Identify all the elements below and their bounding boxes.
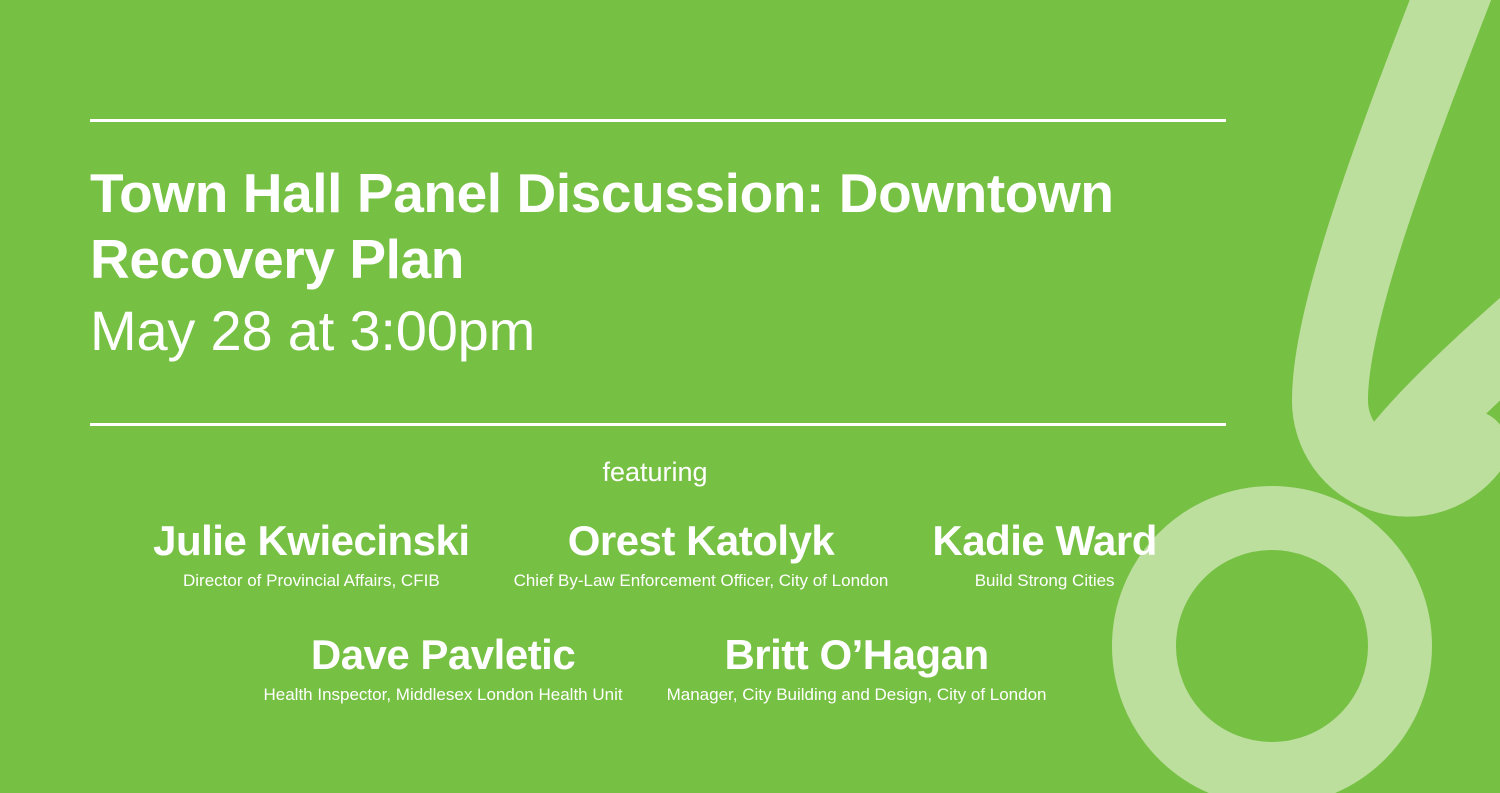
panelist-role: Chief By-Law Enforcement Officer, City o… <box>514 570 889 592</box>
event-datetime: May 28 at 3:00pm <box>90 298 1210 364</box>
panelist-name: Britt O’Hagan <box>667 629 1047 681</box>
panelist-role: Manager, City Building and Design, City … <box>667 684 1047 706</box>
panelist-entry: Dave Pavletic Health Inspector, Middlese… <box>241 629 644 706</box>
panelist-row-two: Dave Pavletic Health Inspector, Middlese… <box>0 629 1310 706</box>
panelist-entry: Orest Katolyk Chief By-Law Enforcement O… <box>492 515 911 592</box>
panelist-role: Health Inspector, Middlesex London Healt… <box>263 684 622 706</box>
panelist-name: Orest Katolyk <box>514 515 889 567</box>
panelist-name: Kadie Ward <box>932 515 1156 567</box>
panelist-entry: Britt O’Hagan Manager, City Building and… <box>645 629 1069 706</box>
divider-rule-top <box>90 119 1226 122</box>
divider-rule-bottom <box>90 423 1226 426</box>
panelist-name: Julie Kwiecinski <box>153 515 469 567</box>
headline-block: Town Hall Panel Discussion: Downtown Rec… <box>90 160 1210 364</box>
panelist-entry: Julie Kwiecinski Director of Provincial … <box>131 515 491 592</box>
featuring-label: featuring <box>0 455 1310 489</box>
panelist-role: Build Strong Cities <box>932 570 1156 592</box>
panelist-row-one: Julie Kwiecinski Director of Provincial … <box>0 515 1310 592</box>
panelist-name: Dave Pavletic <box>263 629 622 681</box>
page-title: Town Hall Panel Discussion: Downtown Rec… <box>90 160 1210 292</box>
panelist-entry: Kadie Ward Build Strong Cities <box>910 515 1178 592</box>
poster-content: Town Hall Panel Discussion: Downtown Rec… <box>0 0 1500 793</box>
panelist-role: Director of Provincial Affairs, CFIB <box>153 570 469 592</box>
event-poster: Town Hall Panel Discussion: Downtown Rec… <box>0 0 1500 793</box>
